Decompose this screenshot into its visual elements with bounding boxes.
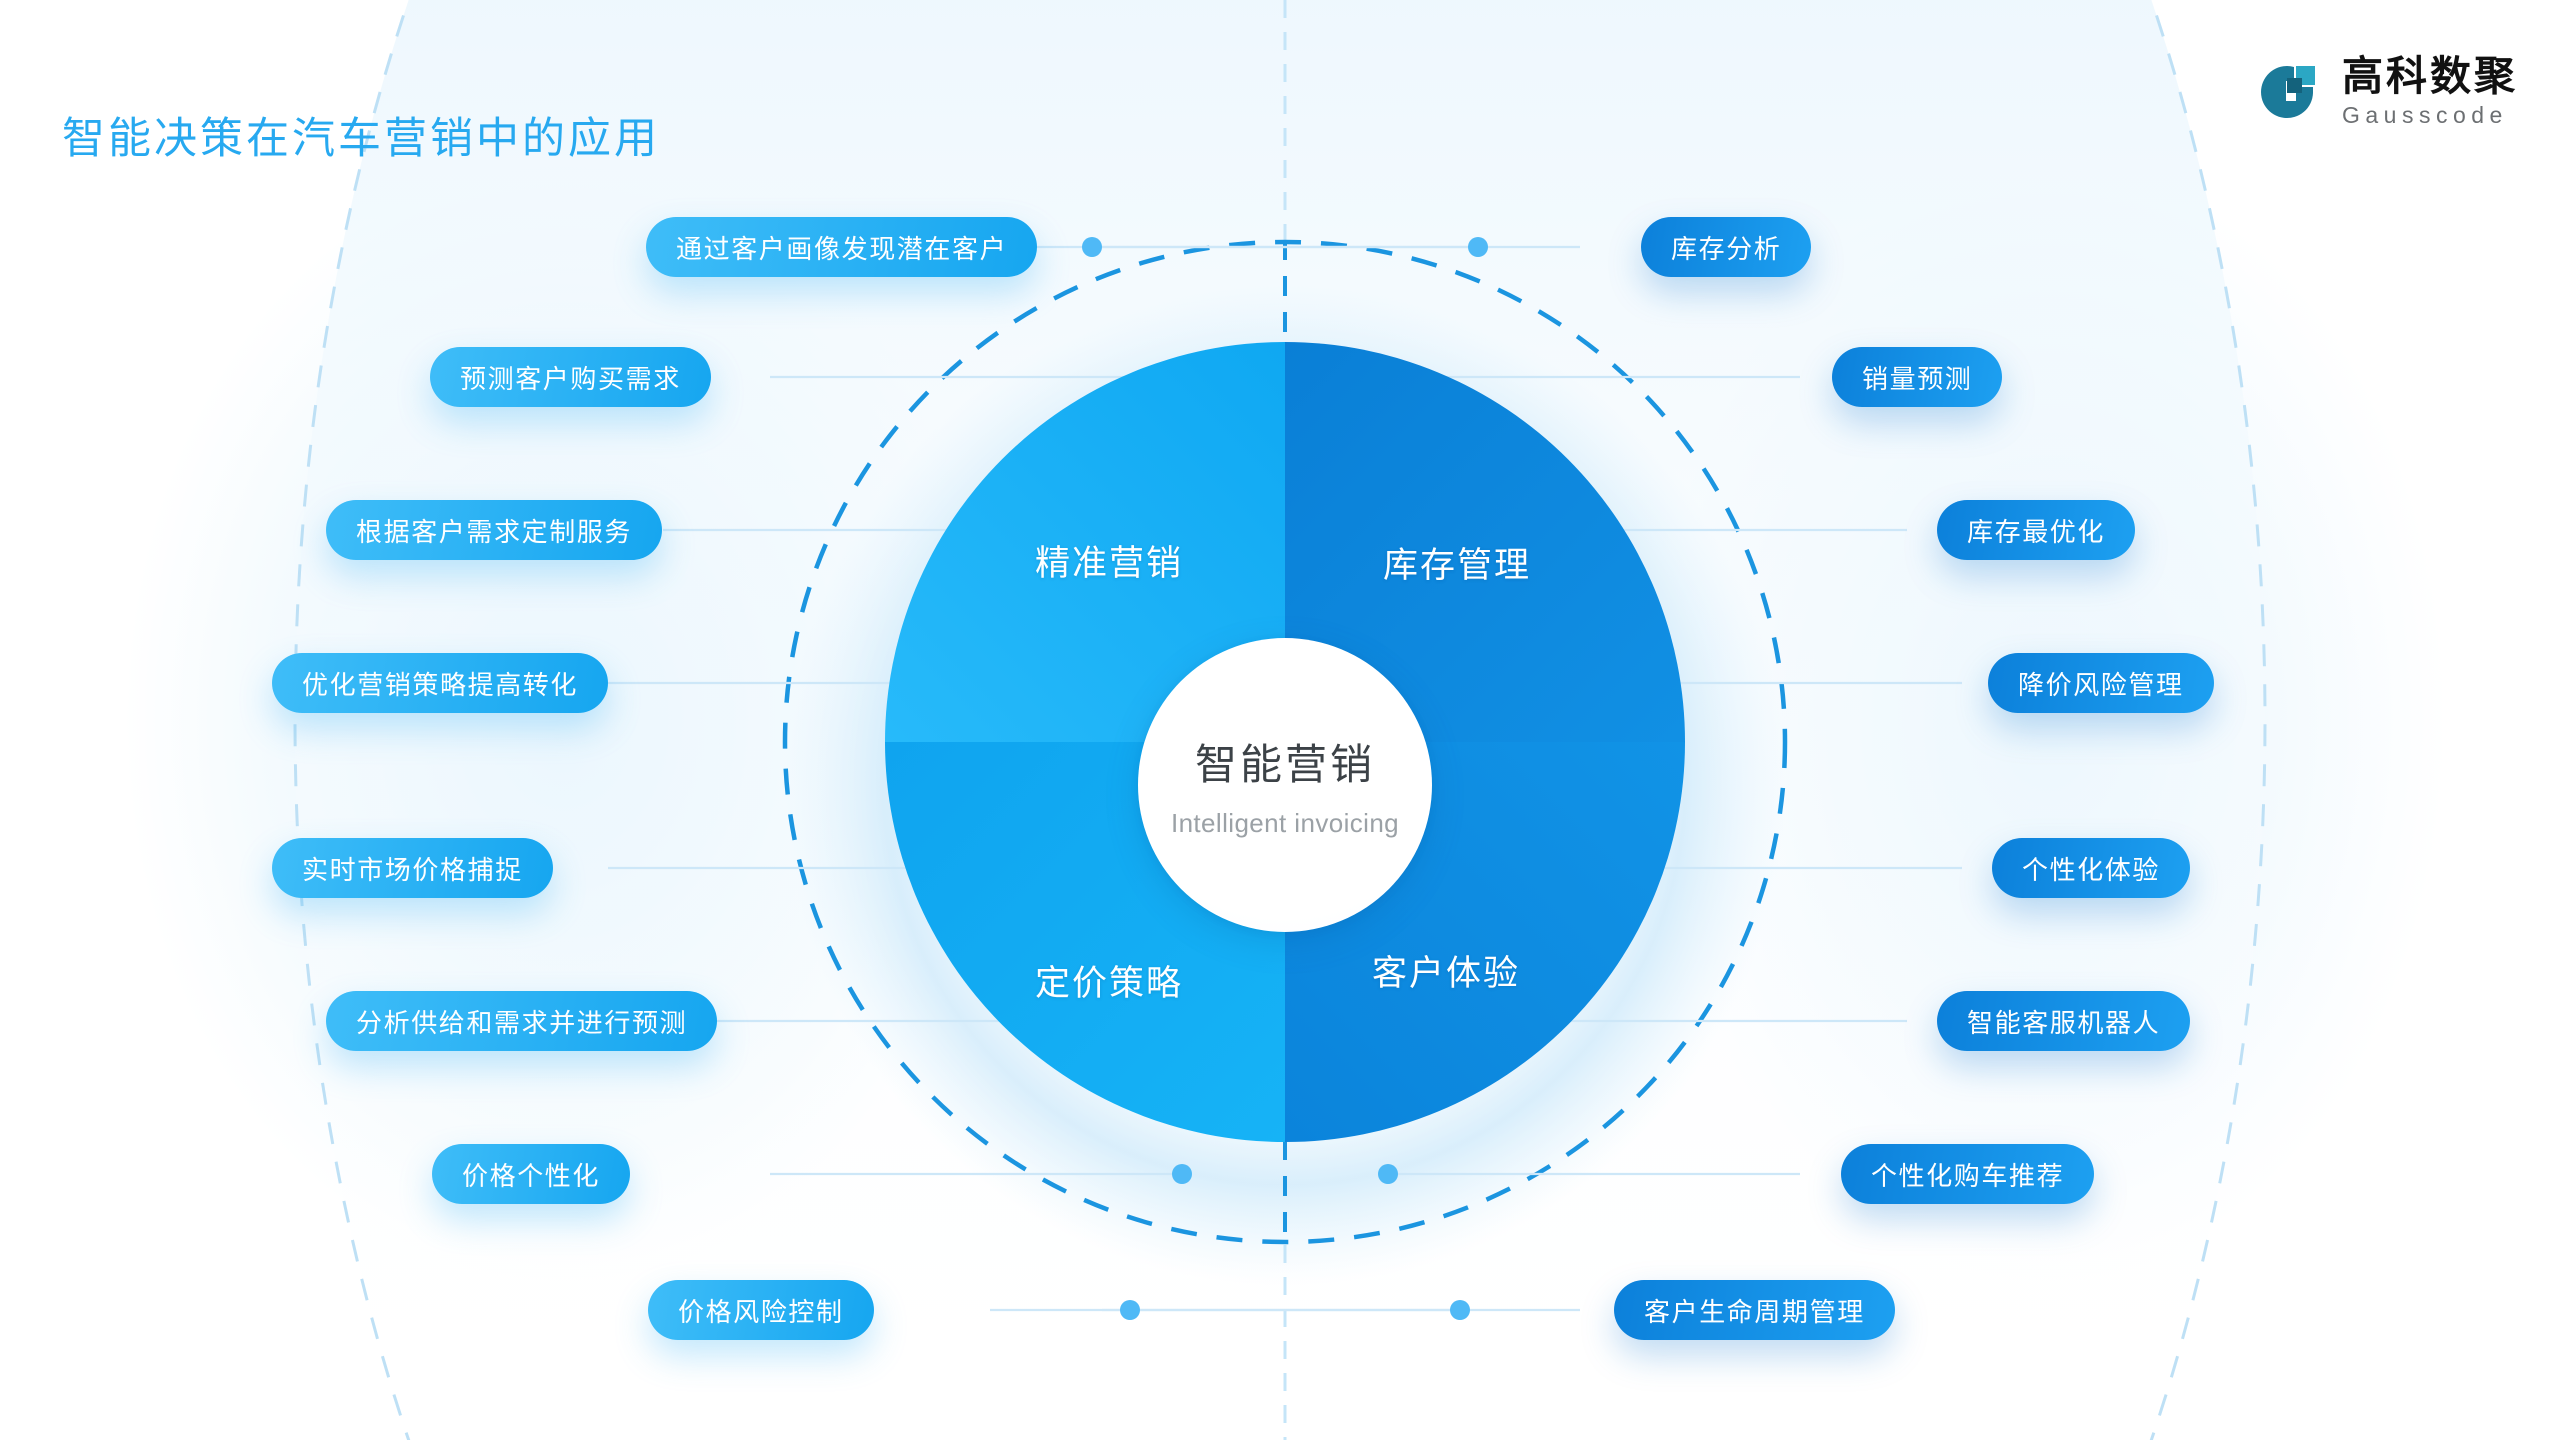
left-item-2[interactable]: 预测客户购买需求	[430, 347, 711, 407]
hub-title-cn: 智能营销	[1195, 731, 1375, 792]
right-item-8[interactable]: 客户生命周期管理	[1614, 1280, 1895, 1340]
slide-canvas: 智能营销 Intelligent invoicing 精准营销 库存管理 定价策…	[0, 0, 2560, 1440]
right-item-4[interactable]: 降价风险管理	[1988, 653, 2214, 713]
quadrant-label-bottom-left: 定价策略	[1035, 955, 1183, 1006]
page-title: 智能决策在汽车营销中的应用	[62, 104, 660, 166]
left-item-7[interactable]: 价格个性化	[432, 1144, 630, 1204]
left-item-3[interactable]: 根据客户需求定制服务	[326, 500, 662, 560]
center-hub: 智能营销 Intelligent invoicing	[1138, 638, 1432, 932]
logo-text-en: Gausscode	[2342, 104, 2518, 127]
right-item-5[interactable]: 个性化体验	[1992, 838, 2190, 898]
logo-text-cn: 高科数聚	[2342, 56, 2518, 97]
quadrant-label-bottom-right: 客户体验	[1372, 945, 1520, 996]
left-item-4[interactable]: 优化营销策略提高转化	[272, 653, 608, 713]
right-item-7[interactable]: 个性化购车推荐	[1841, 1144, 2094, 1204]
left-item-8[interactable]: 价格风险控制	[648, 1280, 874, 1340]
gausscode-g-mark-icon	[2256, 57, 2326, 127]
hub-title-en: Intelligent invoicing	[1171, 808, 1399, 839]
right-item-2[interactable]: 销量预测	[1832, 347, 2002, 407]
left-item-5[interactable]: 实时市场价格捕捉	[272, 838, 553, 898]
quadrant-label-top-left: 精准营销	[1035, 535, 1183, 586]
right-item-1[interactable]: 库存分析	[1641, 217, 1811, 277]
right-item-3[interactable]: 库存最优化	[1937, 500, 2135, 560]
brand-logo: 高科数聚 Gausscode	[2256, 56, 2518, 127]
right-item-6[interactable]: 智能客服机器人	[1937, 991, 2190, 1051]
left-item-1[interactable]: 通过客户画像发现潜在客户	[646, 217, 1037, 277]
quadrant-label-top-right: 库存管理	[1383, 537, 1531, 588]
left-item-6[interactable]: 分析供给和需求并进行预测	[326, 991, 717, 1051]
